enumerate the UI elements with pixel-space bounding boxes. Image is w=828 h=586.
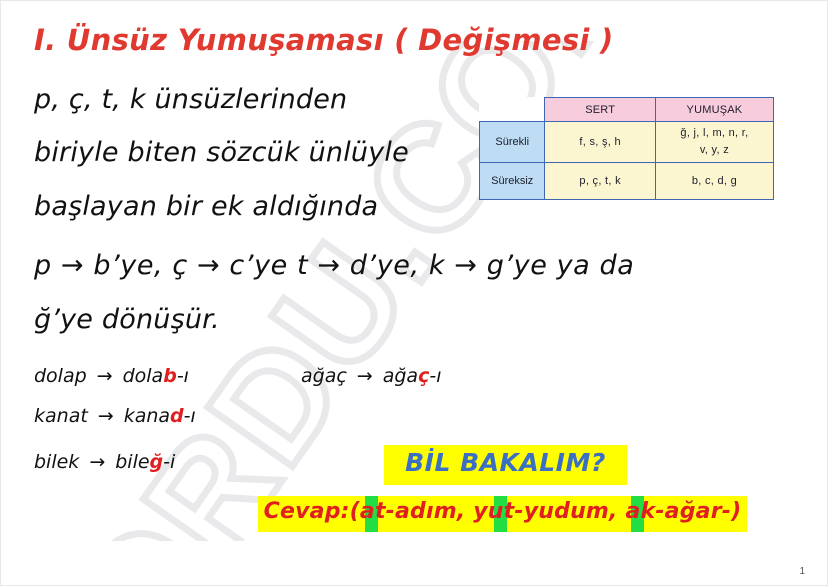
slide-canvas: ORDU.COM I. Ünsüz Yumuşaması ( Değişmesi… bbox=[0, 0, 828, 586]
table-row-sureksiz: Süreksiz p, ç, t, k b, c, d, g bbox=[480, 163, 774, 200]
consonant-table: SERT YUMUŞAK Sürekli f, s, ş, h ğ, j, l,… bbox=[479, 97, 774, 200]
quiz-question-text: BİL BAKALIM? bbox=[384, 448, 627, 477]
example-result-prefix: bile bbox=[115, 451, 149, 473]
example-result-highlight: d bbox=[170, 405, 184, 427]
example-base-word: bilek bbox=[34, 451, 79, 473]
example-row-bilek: bilek→bileğ-i bbox=[34, 451, 175, 473]
example-result-prefix: ağa bbox=[383, 365, 418, 387]
example-result-suffix: -ı bbox=[177, 365, 189, 387]
arrow-icon: → bbox=[357, 365, 373, 387]
body-line-1: p, ç, t, k ünsüzlerinden bbox=[34, 84, 347, 115]
quiz-answer-text: Cevap:(at-adım, yut-yudum, ak-ağar-) bbox=[258, 499, 747, 524]
example-base-word: dolap bbox=[34, 365, 87, 387]
example-row-kanat: kanat→kanad-ı bbox=[34, 405, 196, 427]
example-result-prefix: dola bbox=[123, 365, 164, 387]
arrow-icon: → bbox=[89, 451, 105, 473]
page-number: 1 bbox=[799, 566, 805, 577]
example-result-suffix: -i bbox=[163, 451, 175, 473]
arrow-icon: → bbox=[97, 365, 113, 387]
table-header-sert: SERT bbox=[545, 98, 655, 122]
table-rowhead-sureksiz: Süreksiz bbox=[480, 163, 545, 200]
table-rowhead-surekli: Sürekli bbox=[480, 122, 545, 163]
table-cell-sureksiz-yumusak: b, c, d, g bbox=[655, 163, 773, 200]
example-result-suffix: -ı bbox=[184, 405, 196, 427]
example-result-suffix: -ı bbox=[429, 365, 441, 387]
table-row-surekli: Sürekli f, s, ş, h ğ, j, l, m, n, r,v, y… bbox=[480, 122, 774, 163]
example-result-highlight: ğ bbox=[150, 451, 164, 473]
example-base-word: ağaç bbox=[301, 365, 347, 387]
example-result-highlight: b bbox=[163, 365, 177, 387]
body-line-3: başlayan bir ek aldığında bbox=[34, 191, 378, 222]
example-result-prefix: kana bbox=[124, 405, 170, 427]
example-row-dolap: dolap→dolab-ı bbox=[34, 365, 189, 387]
table-cell-surekli-sert: f, s, ş, h bbox=[545, 122, 655, 163]
table-cell-sureksiz-sert: p, ç, t, k bbox=[545, 163, 655, 200]
example-result-highlight: ç bbox=[418, 365, 429, 387]
table-header-yumusak: YUMUŞAK bbox=[655, 98, 773, 122]
arrow-icon: → bbox=[98, 405, 114, 427]
table-corner-blank bbox=[480, 98, 545, 122]
page-title: I. Ünsüz Yumuşaması ( Değişmesi ) bbox=[34, 23, 614, 57]
body-line-2: biriyle biten sözcük ünlüyle bbox=[34, 137, 409, 168]
example-row-agac: ağaç→ağaç-ı bbox=[301, 365, 441, 387]
table-cell-surekli-yumusak: ğ, j, l, m, n, r,v, y, z bbox=[655, 122, 773, 163]
body-line-5: ğ’ye dönüşür. bbox=[34, 304, 220, 335]
body-line-4-transformations: p → b’ye, ç → c’ye t → d’ye, k → g’ye ya… bbox=[34, 250, 634, 281]
example-base-word: kanat bbox=[34, 405, 88, 427]
table-header-row: SERT YUMUŞAK bbox=[480, 98, 774, 122]
